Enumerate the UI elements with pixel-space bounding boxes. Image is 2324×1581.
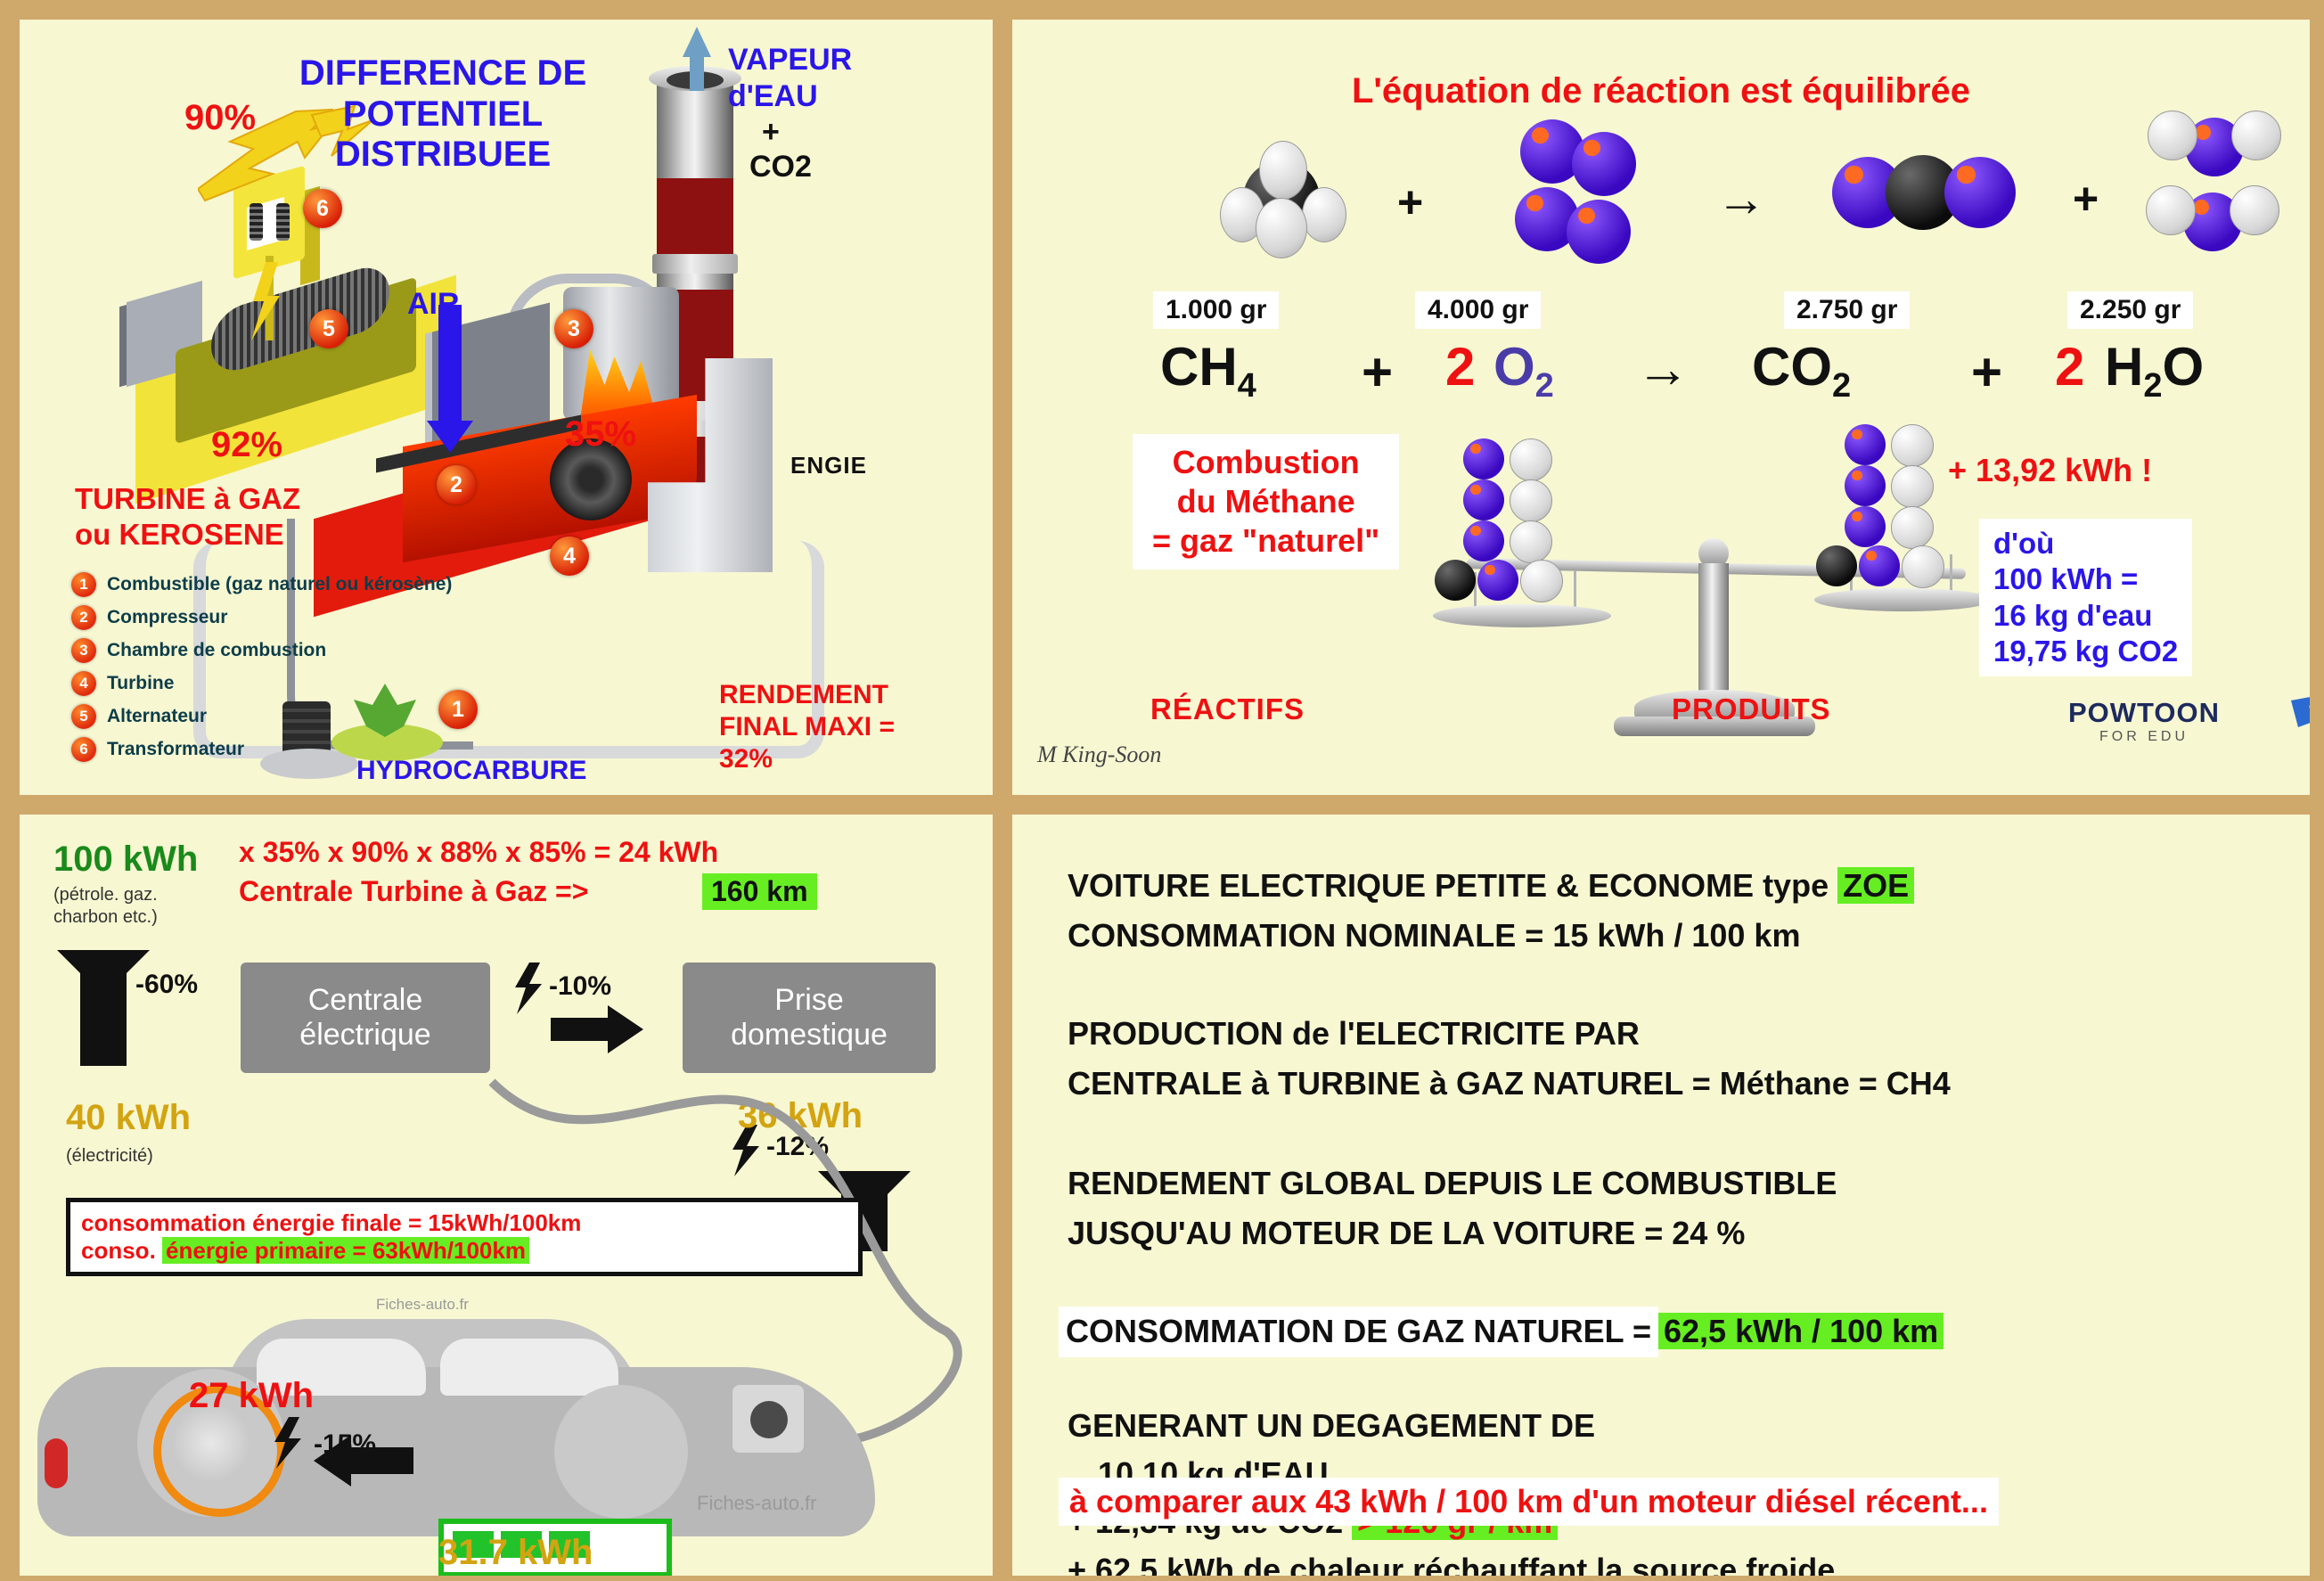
formula-plus-2: +	[1971, 341, 2002, 403]
summary-line-8: GENERANT UN DEGAGEMENT DE	[1068, 1405, 1595, 1448]
callout-3-label: 3	[554, 309, 593, 348]
hydrogen-atom	[2148, 111, 2197, 160]
summary-line-2: CONSOMMATION NOMINALE = 15 kWh / 100 km	[1068, 914, 1800, 958]
callout-5-label: 5	[309, 309, 348, 348]
legend-label: Alternateur	[107, 706, 207, 727]
powtoon-logo: POWTOON FOR EDU	[2068, 697, 2220, 745]
reactifs-label: RÉACTIFS	[1150, 692, 1305, 726]
legend-number: 2	[71, 605, 96, 630]
hydrogen-atom	[2231, 111, 2281, 160]
callout-2: 2	[437, 465, 476, 504]
summary-line-11: + 62,5 kWh de chaleur réchauffant la sou…	[1068, 1549, 1835, 1576]
consumption-box: consommation énergie finale = 15kWh/100k…	[66, 1198, 863, 1276]
transfer-arrow-right	[551, 1018, 613, 1041]
hydrogen-atom	[1510, 479, 1552, 522]
summary-line-3: PRODUCTION de l'ELECTRICITE PAR	[1068, 1012, 1640, 1056]
power-plant-box: Centrale électrique	[241, 963, 490, 1073]
hydrogen-atom	[1891, 506, 1934, 549]
electricity-40-value: 40 kWh	[66, 1098, 191, 1138]
co2-label: CO2	[749, 150, 933, 184]
powtoon-mark-icon	[2291, 697, 2310, 736]
legend-number: 5	[71, 704, 96, 729]
range-badge: 160 km	[702, 873, 817, 910]
bolt-icon-1	[511, 963, 547, 1014]
reaction-arrow-icon: →	[1716, 169, 1766, 227]
carbon-atom	[1435, 560, 1476, 601]
watermark-1: Fiches-auto.fr	[376, 1296, 469, 1314]
primary-energy-sources: (pétrole. gaz. charbon etc.)	[53, 884, 158, 929]
bolt-icon-3	[271, 1417, 307, 1469]
formula-co2: CO2	[1752, 336, 1851, 405]
summary-line-1: VOITURE ELECTRIQUE PETITE & ECONOME type…	[1068, 864, 1914, 908]
molecule-2h2o	[2142, 111, 2310, 289]
efficiency-90-label: 90%	[184, 98, 256, 138]
legend-list: 1 Combustible (gaz naturel ou kérosène) …	[71, 572, 452, 770]
efficiency-35-label: 35%	[565, 414, 636, 455]
oxygen-atom	[1463, 520, 1504, 561]
plus-sign: +	[762, 115, 933, 150]
loss-arrow-down-1	[80, 950, 127, 1066]
legend-label: Transformateur	[107, 739, 244, 760]
hydrogen-atom	[1302, 187, 1346, 242]
chain-calc-line2: Centrale Turbine à Gaz =>	[239, 875, 588, 908]
efficiency-92-label: 92%	[211, 425, 282, 465]
hydrogen-atom	[1510, 520, 1552, 563]
combustion-note: Combustion du Méthane = gaz "naturel"	[1133, 434, 1399, 569]
hydrogen-atom	[2146, 185, 2196, 235]
mass-o2: 4.000 gr	[1415, 291, 1541, 329]
legend-item: 2 Compresseur	[71, 605, 452, 630]
hydrogen-atom	[1259, 141, 1307, 200]
panel-energy-chain: 100 kWh (pétrole. gaz. charbon etc.) x 3…	[20, 815, 993, 1576]
loss-10-label: -10%	[549, 971, 611, 1002]
car-window-rear	[440, 1339, 618, 1396]
molecule-row: + → +	[1012, 135, 2310, 278]
oxygen-atom	[1567, 200, 1631, 264]
legend-label: Chambre de combustion	[107, 640, 326, 661]
mass-ch4: 1.000 gr	[1153, 291, 1279, 329]
legend-number: 3	[71, 638, 96, 663]
legend-number: 4	[71, 671, 96, 696]
wheel-317-value: 31.7 kWh	[438, 1533, 593, 1573]
reactants-stack	[1447, 438, 1608, 608]
derived-values-note: d'où 100 kWh = 16 kg d'eau 19,75 kg CO2	[1979, 519, 2192, 676]
primary-consumption-prefix: conso.	[81, 1237, 162, 1264]
oxygen-atom	[1572, 132, 1636, 196]
car-taillight	[45, 1438, 68, 1488]
gas-consumption-label: CONSOMMATION DE GAZ NATUREL =	[1059, 1307, 1658, 1357]
oxygen-atom	[1859, 545, 1900, 586]
molecule-ch4	[1204, 141, 1364, 274]
motor-arrow-left-head	[314, 1435, 351, 1487]
legend-number: 1	[71, 572, 96, 597]
hydrogen-atom	[1256, 198, 1307, 258]
carbon-atom	[1816, 545, 1857, 586]
callout-5: 5	[309, 309, 348, 348]
primary-consumption-line: conso. énergie primaire = 63kWh/100km	[81, 1237, 847, 1265]
powtoon-tagline: FOR EDU	[2068, 729, 2220, 745]
panel-balanced-equation: L'équation de réaction est équilibrée + …	[1012, 20, 2310, 795]
callout-4: 4	[550, 537, 589, 576]
formula-h2o: H2O	[2105, 336, 2204, 405]
equation-title: L'équation de réaction est équilibrée	[1012, 71, 2310, 111]
molecule-co2	[1832, 150, 2028, 257]
products-stack	[1829, 424, 1989, 594]
legend-item: 3 Chambre de combustion	[71, 638, 452, 663]
balance-column	[1698, 563, 1729, 697]
plus-sign-1: +	[1397, 176, 1423, 228]
summary-line-5: RENDEMENT GLOBAL DEPUIS LE COMBUSTIBLE	[1068, 1162, 1837, 1206]
oxygen-atom	[1463, 438, 1504, 479]
formula-ch4: CH4	[1160, 336, 1256, 405]
steam-arrow-icon	[683, 27, 711, 57]
small-bolt-icon	[250, 262, 285, 342]
summary-line-7: CONSOMMATION DE GAZ NATUREL = 62,5 kWh /…	[1059, 1307, 1943, 1357]
hydrogen-atom	[1902, 545, 1944, 588]
chain-calc-line1: x 35% x 90% x 88% x 85% = 24 kWh	[239, 836, 718, 869]
hydrogen-atom	[1891, 465, 1934, 508]
oxygen-atom	[1845, 465, 1886, 506]
oxygen-atom	[1845, 424, 1886, 465]
air-intake-arrow-icon	[438, 305, 462, 421]
summary-line-6: JUSQU'AU MOTEUR DE LA VOITURE = 24 %	[1068, 1212, 1745, 1256]
callout-2-label: 2	[437, 465, 476, 504]
legend-label: Compresseur	[107, 607, 227, 628]
transformer-bushing-left	[250, 203, 263, 241]
charging-plug-icon	[750, 1401, 788, 1438]
mass-h2o: 2.250 gr	[2067, 291, 2193, 329]
electricity-40-sub: (électricité)	[66, 1146, 153, 1167]
mass-co2: 2.750 gr	[1784, 291, 1910, 329]
transfer-arrow-head	[608, 1005, 643, 1053]
legend-label: Turbine	[107, 673, 174, 694]
air-label: AIR	[407, 287, 460, 322]
summary-line-4: CENTRALE à TURBINE à GAZ NATUREL = Métha…	[1068, 1062, 1951, 1106]
energy-release-label: + 13,92 kWh !	[1948, 452, 2152, 489]
oxygen-atom	[1944, 157, 2016, 228]
callout-6-label: 6	[303, 189, 342, 228]
diesel-comparison-note: à comparer aux 43 kWh / 100 km d'un mote…	[1059, 1478, 1999, 1526]
formula-row: CH4 + 2 O2 → CO2 + 2 H2O	[1012, 336, 2310, 425]
author-signature: M King-Soon	[1037, 741, 1161, 768]
oxygen-atom	[1477, 560, 1518, 601]
plus-sign-2: +	[2073, 173, 2099, 225]
vapeur-deau-label: VAPEUR d'EAU	[728, 42, 933, 115]
transformer-bushing-right	[276, 203, 290, 241]
primary-energy-value: 100 kWh	[53, 840, 198, 880]
potential-difference-title: DIFFERENCE DE POTENTIEL DISTRIBUEE	[296, 53, 590, 176]
callout-4-label: 4	[550, 537, 589, 576]
produits-label: PRODUITS	[1672, 692, 1831, 726]
callout-6: 6	[303, 189, 342, 228]
hydrogen-atom	[1891, 424, 1934, 467]
legend-item: 5 Alternateur	[71, 704, 452, 729]
legend-item: 6 Transformateur	[71, 737, 452, 762]
legend-item: 4 Turbine	[71, 671, 452, 696]
motor-arrow-left-shaft	[349, 1447, 413, 1474]
legend-number: 6	[71, 737, 96, 762]
gas-consumption-highlight: 62,5 kWh / 100 km	[1658, 1313, 1943, 1349]
formula-coef-4: 2	[2055, 336, 2084, 397]
formula-plus-1: +	[1362, 341, 1393, 403]
formula-coef-2: 2	[1445, 336, 1475, 397]
formula-o2: O2	[1493, 336, 1554, 405]
primary-consumption-highlight: énergie primaire = 63kWh/100km	[162, 1237, 529, 1264]
loss-60-label: -60%	[135, 970, 198, 1000]
car-wheel-rear	[554, 1385, 688, 1519]
powtoon-wordmark: POWTOON	[2068, 697, 2220, 729]
watermark-2: Fiches-auto.fr	[697, 1492, 817, 1515]
legend-item: 1 Combustible (gaz naturel ou kérosène)	[71, 572, 452, 597]
legend-label: Combustible (gaz naturel ou kérosène)	[107, 574, 452, 595]
zoe-highlight: ZOE	[1837, 867, 1914, 904]
formula-arrow-icon: →	[1636, 338, 1690, 399]
panel-gas-turbine-plant: 1 2 3 4 5 6 DIFFERENCE DE POTENTIEL DIST…	[20, 20, 993, 795]
hydrogen-atom	[1510, 438, 1552, 481]
hydrogen-atom	[1520, 560, 1563, 602]
summary-line-1-prefix: VOITURE ELECTRIQUE PETITE & ECONOME type	[1068, 867, 1837, 904]
infographic-grid: 1 2 3 4 5 6 DIFFERENCE DE POTENTIEL DIST…	[0, 0, 2324, 1581]
vapeur-block: VAPEUR d'EAU + CO2	[728, 42, 933, 184]
turbine-title: TURBINE à GAZ ou KEROSENE	[75, 481, 300, 552]
oxygen-atom	[1463, 479, 1504, 520]
final-consumption-line: consommation énergie finale = 15kWh/100k…	[81, 1209, 847, 1237]
callout-3: 3	[554, 309, 593, 348]
hydrogen-atom	[2230, 185, 2279, 235]
motor-27-value: 27 kWh	[189, 1376, 314, 1416]
engie-brand-label: ENGIE	[790, 452, 867, 479]
oxygen-atom	[1845, 506, 1886, 547]
domestic-outlet-box: Prise domestique	[683, 963, 936, 1073]
final-efficiency-label: RENDEMENT FINAL MAXI = 32%	[719, 679, 946, 775]
molecule-2o2	[1495, 119, 1665, 289]
panel-summary-text: VOITURE ELECTRIQUE PETITE & ECONOME type…	[1012, 815, 2310, 1576]
